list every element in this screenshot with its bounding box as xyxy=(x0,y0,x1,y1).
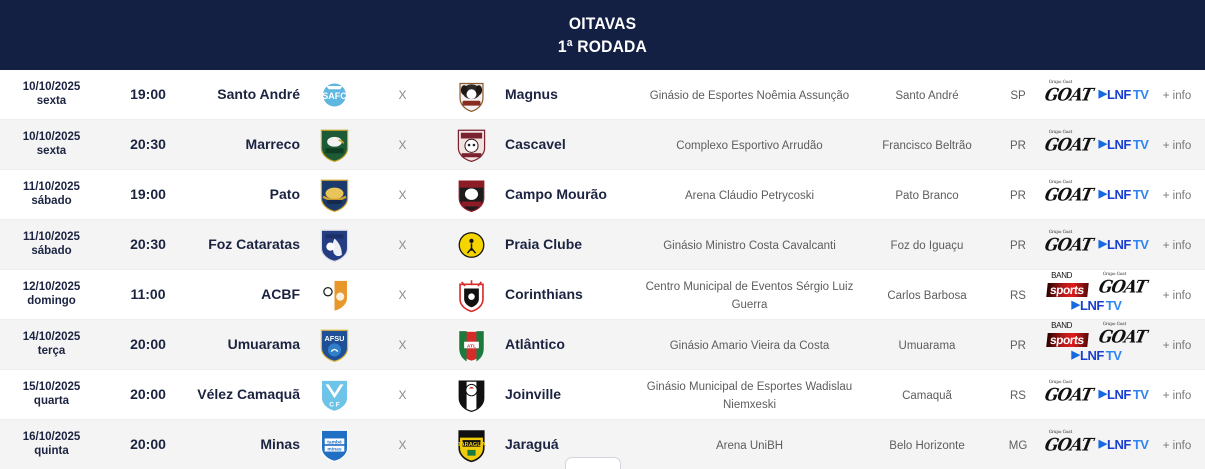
away-team-cell[interactable]: Magnus xyxy=(497,86,637,104)
sports-label: sports xyxy=(1046,283,1088,297)
state-abbrev: PR xyxy=(1010,340,1026,352)
goat-logo[interactable]: Grupo GoatGOAT xyxy=(1043,386,1094,403)
praia-clube-crest xyxy=(455,227,488,263)
match-date-cell: 11/10/2025sábado xyxy=(0,231,103,257)
match-time: 20:00 xyxy=(130,336,166,352)
match-time: 20:30 xyxy=(130,136,166,152)
lnf-label: LNF xyxy=(1080,349,1104,362)
goat-sup-label: Grupo Goat xyxy=(1103,322,1127,326)
more-info-cell[interactable]: + info xyxy=(1149,436,1205,454)
city-cell: Belo Horizonte xyxy=(862,436,992,454)
tv-label: TV xyxy=(1106,299,1122,312)
santo-andre-crest: SAFC xyxy=(318,77,351,113)
away-team-logo-cell[interactable] xyxy=(445,277,497,313)
city-cell: Santo André xyxy=(862,86,992,104)
city-name: Camaquã xyxy=(902,390,952,402)
venue-cell: Ginásio Municipal de Esportes Wadislau N… xyxy=(637,377,862,413)
match-time-cell: 11:00 xyxy=(103,286,193,304)
home-team-cell[interactable]: Pato xyxy=(193,186,308,204)
match-weekday: quarta xyxy=(0,395,103,408)
more-info-link[interactable]: + info xyxy=(1163,390,1191,402)
match-date: 14/10/2025 xyxy=(0,331,103,344)
svg-text:SAFC: SAFC xyxy=(322,91,347,101)
velez-camaqua-crest: C F xyxy=(318,377,351,413)
goat-logo[interactable]: Grupo GoatGOAT xyxy=(1097,328,1148,345)
venue-cell: Ginásio de Esportes Noêmia Assunção xyxy=(637,86,862,104)
jaragua-crest: JARAGUA xyxy=(455,427,488,463)
match-time: 20:30 xyxy=(130,236,166,252)
svg-text:també: també xyxy=(327,439,342,445)
venue-name: Ginásio de Esportes Noêmia Assunção xyxy=(650,90,849,102)
venue-cell: Arena UniBH xyxy=(637,436,862,454)
away-team-name: Magnus xyxy=(505,86,558,102)
away-team-cell[interactable]: Praia Clube xyxy=(497,236,637,254)
home-team-name: Santo André xyxy=(217,86,300,102)
goat-logo[interactable]: Grupo GoatGOAT xyxy=(1043,186,1094,203)
home-team-cell[interactable]: Foz Cataratas xyxy=(193,236,308,254)
more-info-cell[interactable]: + info xyxy=(1149,186,1205,204)
svg-text:ATL: ATL xyxy=(466,343,475,349)
away-team-logo-cell[interactable] xyxy=(445,177,497,213)
city-name: Santo André xyxy=(895,90,958,102)
acbf-crest xyxy=(318,277,351,313)
goat-logo[interactable]: Grupo GoatGOAT xyxy=(1097,278,1148,295)
away-team-logo-cell[interactable]: ATL xyxy=(445,327,497,363)
versus-label: X xyxy=(398,438,406,452)
city-name: Umuarama xyxy=(899,340,956,352)
home-team-logo-cell[interactable]: AFSU xyxy=(308,327,360,363)
match-time: 11:00 xyxy=(130,286,165,302)
load-more-button[interactable] xyxy=(565,457,621,469)
venue-name: Centro Municipal de Eventos Sérgio Luiz … xyxy=(646,281,854,311)
more-info-link[interactable]: + info xyxy=(1163,340,1191,352)
city-name: Foz do Iguaçu xyxy=(891,240,964,252)
minas-crest: tambéminas xyxy=(318,427,351,463)
atlantico-crest: ATL xyxy=(455,327,488,363)
corinthians-crest xyxy=(455,277,488,313)
match-weekday: domingo xyxy=(0,295,103,308)
home-team-name: Umuarama xyxy=(228,336,300,352)
bandsports-logo[interactable]: BANDsports xyxy=(1047,278,1088,297)
home-team-name: Foz Cataratas xyxy=(208,236,300,252)
home-team-cell[interactable]: Umuarama xyxy=(193,336,308,354)
state-cell: PR xyxy=(992,236,1044,254)
city-name: Pato Branco xyxy=(895,190,958,202)
match-weekday: sexta xyxy=(0,145,103,158)
match-date: 16/10/2025 xyxy=(0,431,103,444)
tv-label: TV xyxy=(1133,238,1149,251)
match-weekday: sábado xyxy=(0,195,103,208)
venue-cell: Ginásio Amario Vieira da Costa xyxy=(637,336,862,354)
versus-cell: X xyxy=(360,86,445,104)
state-abbrev: MG xyxy=(1009,440,1028,452)
marreco-crest xyxy=(318,127,351,163)
home-team-logo-cell[interactable]: tambéminas xyxy=(308,427,360,463)
lnf-label: LNF xyxy=(1107,88,1131,101)
table-row[interactable]: 11/10/2025sábado19:00PatoXCampo MourãoAr… xyxy=(0,170,1205,220)
cascavel-crest xyxy=(455,127,488,163)
goat-sup-label: Grupo Goat xyxy=(1048,229,1072,233)
match-weekday: sexta xyxy=(0,95,103,108)
lnftv-logo[interactable]: ▶LNFTV xyxy=(1099,88,1149,101)
venue-name: Ginásio Ministro Costa Cavalcanti xyxy=(663,240,836,252)
broadcasters-cell[interactable]: Grupo GoatGOAT▶LNFTV xyxy=(1044,87,1149,103)
home-team-cell[interactable]: Santo André xyxy=(193,86,308,104)
broadcasters-cell[interactable]: Grupo GoatGOAT▶LNFTV xyxy=(1044,187,1149,203)
match-date-cell: 12/10/2025domingo xyxy=(0,281,103,307)
match-time: 20:00 xyxy=(130,436,166,452)
city-cell: Umuarama xyxy=(862,336,992,354)
table-row[interactable]: 12/10/2025domingo11:00ACBFXCorinthiansCe… xyxy=(0,270,1205,320)
away-team-name: Joinville xyxy=(505,386,561,402)
table-row[interactable]: 10/10/2025sexta19:00Santo AndréSAFCXMagn… xyxy=(0,70,1205,120)
home-team-name: Pato xyxy=(270,186,300,202)
away-team-name: Cascavel xyxy=(505,136,566,152)
lnf-label: LNF xyxy=(1107,388,1131,401)
city-name: Carlos Barbosa xyxy=(887,290,966,302)
home-team-cell[interactable]: Minas xyxy=(193,436,308,454)
city-name: Francisco Beltrão xyxy=(882,140,971,152)
city-cell: Carlos Barbosa xyxy=(862,286,992,304)
play-arrow-icon: ▶ xyxy=(1099,89,1105,100)
versus-label: X xyxy=(398,188,406,202)
goat-logo[interactable]: Grupo GoatGOAT xyxy=(1043,136,1094,153)
state-cell: SP xyxy=(992,86,1044,104)
home-team-cell[interactable]: ACBF xyxy=(193,286,308,304)
match-date: 11/10/2025 xyxy=(0,231,103,244)
match-time-cell: 20:30 xyxy=(103,236,193,254)
lnf-label: LNF xyxy=(1107,238,1131,251)
home-team-name: Vélez Camaquã xyxy=(197,386,300,402)
venue-name: Arena Cláudio Petrycoski xyxy=(685,190,814,202)
home-team-logo-cell[interactable] xyxy=(308,127,360,163)
versus-cell: X xyxy=(360,186,445,204)
away-team-cell[interactable]: Jaraguá xyxy=(497,436,637,454)
state-cell: RS xyxy=(992,386,1044,404)
home-team-name: Marreco xyxy=(246,136,300,152)
more-info-cell[interactable]: + info xyxy=(1149,286,1205,304)
match-time-cell: 20:00 xyxy=(103,436,193,454)
goat-logo[interactable]: Grupo GoatGOAT xyxy=(1043,86,1094,103)
match-date: 12/10/2025 xyxy=(0,281,103,294)
away-team-cell[interactable]: Joinville xyxy=(497,386,637,404)
more-info-link[interactable]: + info xyxy=(1163,240,1191,252)
city-name: Belo Horizonte xyxy=(889,440,964,452)
round-title: 1ª RODADA xyxy=(558,38,647,55)
versus-cell: X xyxy=(360,286,445,304)
more-info-cell[interactable]: + info xyxy=(1149,386,1205,404)
versus-label: X xyxy=(398,338,406,352)
away-team-name: Praia Clube xyxy=(505,236,582,252)
more-info-link[interactable]: + info xyxy=(1163,140,1191,152)
schedule-header: OITAVAS 1ª RODADA xyxy=(0,0,1205,70)
state-cell: PR xyxy=(992,186,1044,204)
home-team-logo-cell[interactable] xyxy=(308,177,360,213)
state-cell: PR xyxy=(992,336,1044,354)
match-date: 10/10/2025 xyxy=(0,81,103,94)
more-info-link[interactable]: + info xyxy=(1163,190,1191,202)
match-date-cell: 15/10/2025quarta xyxy=(0,381,103,407)
city-cell: Camaquã xyxy=(862,386,992,404)
away-team-cell[interactable]: Corinthians xyxy=(497,286,637,304)
away-team-logo-cell[interactable]: JARAGUA xyxy=(445,427,497,463)
tv-label: TV xyxy=(1133,188,1149,201)
broadcasters-cell[interactable]: Grupo GoatGOAT▶LNFTV xyxy=(1044,437,1149,453)
play-arrow-icon: ▶ xyxy=(1099,139,1105,150)
away-team-logo-cell[interactable] xyxy=(445,77,497,113)
table-row[interactable]: 15/10/2025quarta20:00Vélez CamaquãC FXJo… xyxy=(0,370,1205,420)
match-schedule-page: OITAVAS 1ª RODADA 10/10/2025sexta19:00Sa… xyxy=(0,0,1205,469)
more-info-cell[interactable]: + info xyxy=(1149,336,1205,354)
table-row[interactable]: 11/10/2025sábado20:30Foz CataratasXPraia… xyxy=(0,220,1205,270)
table-row[interactable]: 10/10/2025sexta20:30MarrecoXCascavelComp… xyxy=(0,120,1205,170)
match-time-cell: 20:00 xyxy=(103,386,193,404)
match-weekday: terça xyxy=(0,345,103,358)
play-arrow-icon: ▶ xyxy=(1099,389,1105,400)
match-date-cell: 16/10/2025quinta xyxy=(0,431,103,457)
venue-name: Ginásio Amario Vieira da Costa xyxy=(670,340,830,352)
goat-sup-label: Grupo Goat xyxy=(1048,179,1072,183)
goat-sup-label: Grupo Goat xyxy=(1048,429,1072,433)
versus-cell: X xyxy=(360,336,445,354)
away-team-cell[interactable]: Atlântico xyxy=(497,336,637,354)
sports-label: sports xyxy=(1046,333,1088,347)
match-date-cell: 14/10/2025terça xyxy=(0,331,103,357)
table-row[interactable]: 14/10/2025terça20:00UmuaramaAFSUXATLAtlâ… xyxy=(0,320,1205,370)
match-rows: 10/10/2025sexta19:00Santo AndréSAFCXMagn… xyxy=(0,70,1205,469)
band-label: BAND xyxy=(1051,321,1072,330)
match-weekday: sábado xyxy=(0,245,103,258)
versus-cell: X xyxy=(360,236,445,254)
bandsports-logo[interactable]: BANDsports xyxy=(1047,328,1088,347)
away-team-logo-cell[interactable] xyxy=(445,377,497,413)
more-info-cell[interactable]: + info xyxy=(1149,236,1205,254)
play-arrow-icon: ▶ xyxy=(1072,300,1078,311)
magnus-crest xyxy=(455,77,488,113)
broadcasters-cell[interactable]: BANDsportsGrupo GoatGOAT▶LNFTV xyxy=(1044,328,1149,362)
joinville-crest xyxy=(455,377,488,413)
goat-sup-label: Grupo Goat xyxy=(1048,129,1072,133)
lnftv-logo[interactable]: ▶LNFTV xyxy=(1099,188,1149,201)
lnf-label: LNF xyxy=(1107,138,1131,151)
lnftv-logo[interactable]: ▶LNFTV xyxy=(1099,138,1149,151)
away-team-name: Jaraguá xyxy=(505,436,559,452)
lnf-label: LNF xyxy=(1080,299,1104,312)
venue-cell: Centro Municipal de Eventos Sérgio Luiz … xyxy=(637,277,862,313)
city-cell: Foz do Iguaçu xyxy=(862,236,992,254)
foz-cataratas-crest xyxy=(318,227,351,263)
state-abbrev: RS xyxy=(1010,290,1026,302)
goat-sup-label: Grupo Goat xyxy=(1103,272,1127,276)
state-cell: MG xyxy=(992,436,1044,454)
city-cell: Francisco Beltrão xyxy=(862,136,992,154)
match-date: 11/10/2025 xyxy=(0,181,103,194)
home-team-logo-cell[interactable] xyxy=(308,277,360,313)
broadcasters-cell[interactable]: Grupo GoatGOAT▶LNFTV xyxy=(1044,387,1149,403)
svg-text:AFSU: AFSU xyxy=(324,333,344,342)
away-team-logo-cell[interactable] xyxy=(445,227,497,263)
venue-name: Complexo Esportivo Arrudão xyxy=(676,140,822,152)
broadcasters-cell[interactable]: Grupo GoatGOAT▶LNFTV xyxy=(1044,237,1149,253)
versus-cell: X xyxy=(360,136,445,154)
more-info-cell[interactable]: + info xyxy=(1149,86,1205,104)
goat-logo[interactable]: Grupo GoatGOAT xyxy=(1043,436,1094,453)
match-time: 20:00 xyxy=(130,386,166,402)
versus-label: X xyxy=(398,88,406,102)
lnftv-logo[interactable]: ▶LNFTV xyxy=(1099,438,1149,451)
city-cell: Pato Branco xyxy=(862,186,992,204)
home-team-cell[interactable]: Vélez Camaquã xyxy=(193,386,308,404)
match-date-cell: 10/10/2025sexta xyxy=(0,131,103,157)
state-abbrev: PR xyxy=(1010,190,1026,202)
play-arrow-icon: ▶ xyxy=(1099,189,1105,200)
broadcasters-cell[interactable]: Grupo GoatGOAT▶LNFTV xyxy=(1044,137,1149,153)
versus-label: X xyxy=(398,388,406,402)
goat-sup-label: Grupo Goat xyxy=(1048,379,1072,383)
state-cell: RS xyxy=(992,286,1044,304)
venue-cell: Complexo Esportivo Arrudão xyxy=(637,136,862,154)
match-time-cell: 19:00 xyxy=(103,86,193,104)
goat-logo[interactable]: Grupo GoatGOAT xyxy=(1043,236,1094,253)
play-arrow-icon: ▶ xyxy=(1099,439,1105,450)
svg-text:C F: C F xyxy=(329,401,340,408)
state-abbrev: PR xyxy=(1010,240,1026,252)
away-team-name: Atlântico xyxy=(505,336,565,352)
versus-cell: X xyxy=(360,386,445,404)
match-time: 19:00 xyxy=(130,86,166,102)
umuarama-crest: AFSU xyxy=(318,327,351,363)
state-abbrev: RS xyxy=(1010,390,1026,402)
tv-label: TV xyxy=(1133,388,1149,401)
lnf-label: LNF xyxy=(1107,438,1131,451)
band-label: BAND xyxy=(1051,271,1072,280)
match-date: 15/10/2025 xyxy=(0,381,103,394)
phase-title: OITAVAS xyxy=(569,15,636,32)
state-abbrev: SP xyxy=(1010,90,1025,102)
lnftv-logo[interactable]: ▶LNFTV xyxy=(1072,299,1122,312)
home-team-logo-cell[interactable]: C F xyxy=(308,377,360,413)
tv-label: TV xyxy=(1133,438,1149,451)
match-time-cell: 20:00 xyxy=(103,336,193,354)
match-date: 10/10/2025 xyxy=(0,131,103,144)
match-date-cell: 11/10/2025sábado xyxy=(0,181,103,207)
home-team-name: ACBF xyxy=(261,286,300,302)
tv-label: TV xyxy=(1133,138,1149,151)
match-time-cell: 19:00 xyxy=(103,186,193,204)
match-date-cell: 10/10/2025sexta xyxy=(0,81,103,107)
tv-label: TV xyxy=(1106,349,1122,362)
state-cell: PR xyxy=(992,136,1044,154)
match-time: 19:00 xyxy=(130,186,166,202)
home-team-name: Minas xyxy=(260,436,300,452)
play-arrow-icon: ▶ xyxy=(1099,239,1105,250)
state-abbrev: PR xyxy=(1010,140,1026,152)
svg-text:minas: minas xyxy=(327,446,341,452)
home-team-logo-cell[interactable] xyxy=(308,227,360,263)
lnftv-logo[interactable]: ▶LNFTV xyxy=(1072,349,1122,362)
lnftv-logo[interactable]: ▶LNFTV xyxy=(1099,388,1149,401)
away-team-cell[interactable]: Cascavel xyxy=(497,136,637,154)
more-info-link[interactable]: + info xyxy=(1163,440,1191,452)
lnftv-logo[interactable]: ▶LNFTV xyxy=(1099,238,1149,251)
away-team-logo-cell[interactable] xyxy=(445,127,497,163)
home-team-cell[interactable]: Marreco xyxy=(193,136,308,154)
pato-crest xyxy=(318,177,351,213)
versus-label: X xyxy=(398,288,406,302)
svg-text:JARAGUA: JARAGUA xyxy=(457,441,485,447)
away-team-cell[interactable]: Campo Mourão xyxy=(497,186,637,204)
away-team-name: Corinthians xyxy=(505,286,583,302)
match-time-cell: 20:30 xyxy=(103,136,193,154)
venue-name: Arena UniBH xyxy=(716,440,783,452)
home-team-logo-cell[interactable]: SAFC xyxy=(308,77,360,113)
campo-mourao-crest xyxy=(455,177,488,213)
tv-label: TV xyxy=(1133,88,1149,101)
venue-name: Ginásio Municipal de Esportes Wadislau N… xyxy=(647,381,852,411)
versus-label: X xyxy=(398,238,406,252)
goat-sup-label: Grupo Goat xyxy=(1048,79,1072,83)
versus-cell: X xyxy=(360,436,445,454)
versus-label: X xyxy=(398,138,406,152)
broadcasters-cell[interactable]: BANDsportsGrupo GoatGOAT▶LNFTV xyxy=(1044,278,1149,312)
more-info-link[interactable]: + info xyxy=(1163,290,1191,302)
away-team-name: Campo Mourão xyxy=(505,186,607,202)
lnf-label: LNF xyxy=(1107,188,1131,201)
venue-cell: Arena Cláudio Petrycoski xyxy=(637,186,862,204)
more-info-link[interactable]: + info xyxy=(1163,90,1191,102)
play-arrow-icon: ▶ xyxy=(1072,350,1078,361)
match-weekday: quinta xyxy=(0,445,103,458)
venue-cell: Ginásio Ministro Costa Cavalcanti xyxy=(637,236,862,254)
more-info-cell[interactable]: + info xyxy=(1149,136,1205,154)
